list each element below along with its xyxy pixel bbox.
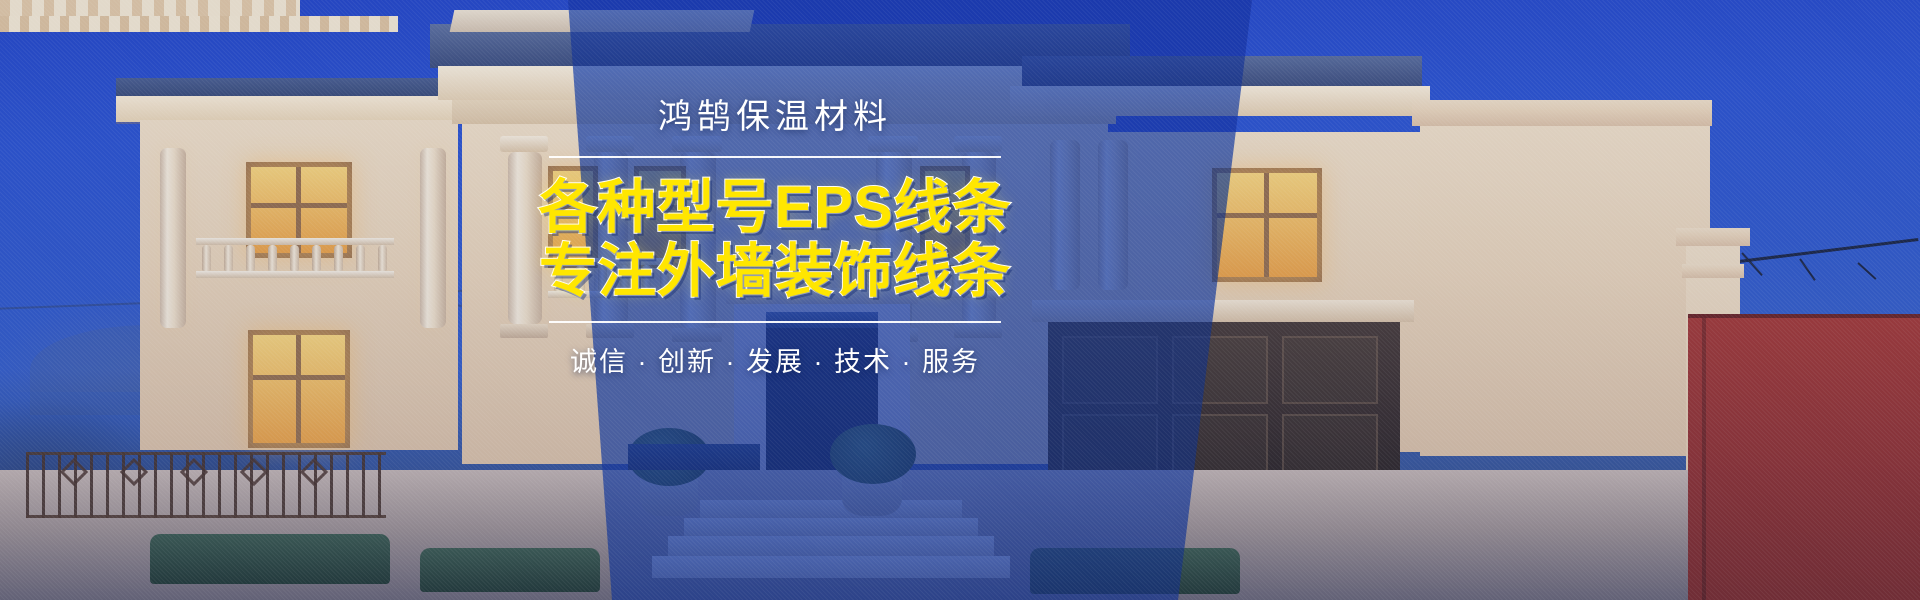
brand-name: 鸿鹄保温材料 <box>530 96 1020 139</box>
headline-line-1: 各种型号EPS线条 <box>530 176 1020 241</box>
headline: 各种型号EPS线条 专注外墙装饰线条 <box>530 176 1020 306</box>
headline-line-2: 专注外墙装饰线条 <box>530 240 1020 305</box>
tagline: 诚信 · 创新 · 发展 · 技术 · 服务 <box>530 340 1020 379</box>
divider-rule-top <box>549 156 1001 158</box>
promo-banner: 鸿鹄保温材料 各种型号EPS线条 专注外墙装饰线条 诚信 · 创新 · 发展 ·… <box>0 0 1920 600</box>
banner-copy-block: 鸿鹄保温材料 各种型号EPS线条 专注外墙装饰线条 诚信 · 创新 · 发展 ·… <box>530 96 1020 379</box>
divider-rule-bottom <box>549 321 1001 323</box>
